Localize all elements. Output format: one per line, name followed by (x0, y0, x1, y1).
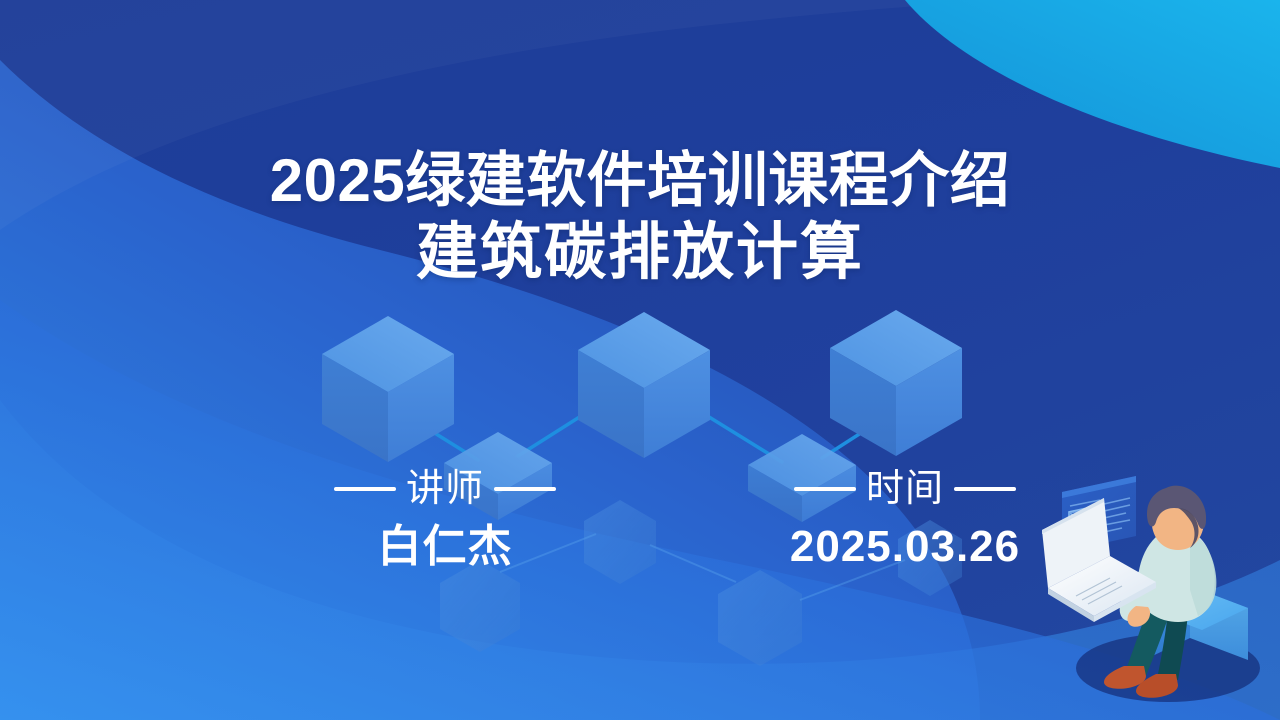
speaker-block: 讲师 白仁杰 (305, 466, 585, 574)
rule-right-icon (954, 487, 1016, 491)
slide-meta-row: 讲师 白仁杰 时间 2025.03.26 (0, 466, 1280, 574)
rule-left-icon (794, 487, 856, 491)
schedule-date: 2025.03.26 (790, 520, 1020, 574)
schedule-label: 时间 (866, 466, 944, 512)
slide-title-primary: 2025绿建软件培训课程介绍 (0, 146, 1280, 216)
schedule-heading: 时间 (794, 466, 1016, 512)
rule-right-icon (494, 487, 556, 491)
slide-text-layer: 2025绿建软件培训课程介绍 建筑碳排放计算 讲师 白仁杰 时间 2025.03… (0, 0, 1280, 720)
rule-left-icon (334, 487, 396, 491)
title-group: 2025绿建软件培训课程介绍 建筑碳排放计算 (0, 146, 1280, 290)
speaker-heading: 讲师 (334, 466, 556, 512)
speaker-label: 讲师 (406, 466, 484, 512)
speaker-name: 白仁杰 (378, 520, 513, 574)
schedule-block: 时间 2025.03.26 (765, 466, 1045, 574)
presentation-slide: 2025绿建软件培训课程介绍 建筑碳排放计算 讲师 白仁杰 时间 2025.03… (0, 0, 1280, 720)
slide-title-secondary: 建筑碳排放计算 (0, 216, 1280, 290)
